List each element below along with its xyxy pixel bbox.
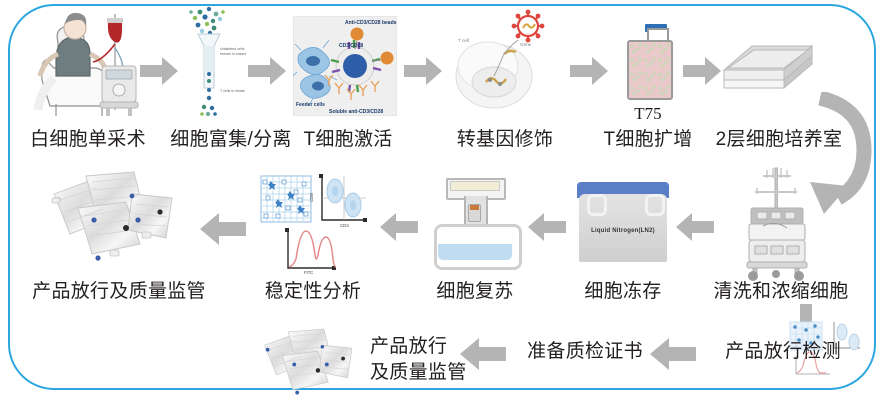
liquid-nitrogen-dewar-illustration: Liquid Nitrogen(LN2) — [573, 176, 673, 274]
workflow-diagram: 白细胞单采术 — [0, 0, 888, 403]
step-label-stability-analysis: 稳定性分析 — [253, 280, 373, 303]
svg-text:T cell: T cell — [458, 38, 469, 43]
step-label-cell-thawing: 细胞复苏 — [430, 280, 520, 303]
svg-text:CD8: CD8 — [309, 193, 314, 202]
arrow-right-3 — [404, 56, 442, 86]
step-stability-analysis[interactable]: CD8 CD4 FITC — [258, 172, 368, 276]
step-label-product-release-qc-row3: 产品放行 及质量监管 — [370, 334, 500, 386]
svg-text:Unlabeled cells: Unlabeled cells — [220, 47, 245, 51]
gene-transduction-illustration: T cell Gene — [448, 4, 558, 120]
step-t-cell-expansion[interactable] — [617, 24, 679, 106]
step-product-release-qc-row3-art[interactable] — [254, 326, 370, 400]
step-label-product-release-qc-row2: 产品放行及质量监管 — [16, 280, 222, 303]
dewar-handle-right — [645, 194, 665, 216]
flask-body — [627, 40, 673, 100]
arrow-left-3 — [380, 212, 418, 242]
flask-size-label: T75 — [617, 104, 679, 124]
cell-washing-machine-illustration — [733, 166, 819, 284]
step-label-prepare-coa[interactable]: 准备质检证书 — [520, 340, 650, 363]
product-release-qc-text: 产品放行 及质量监管 — [370, 336, 467, 383]
t75-flask-illustration — [617, 24, 679, 106]
product-bags-illustration — [48, 168, 188, 268]
step-t-cell-activation[interactable]: Anti-CD3/CD28 beads CD3/CD28 Feeder cell… — [293, 16, 397, 116]
svg-text:remain in column: remain in column — [220, 52, 246, 56]
step-label-release-testing: 产品放行检测 — [708, 340, 858, 363]
arrow-left-1 — [676, 212, 714, 242]
dewar-caption: Liquid Nitrogen(LN2) — [573, 228, 673, 234]
svg-text:FITC: FITC — [304, 270, 313, 275]
arrow-right-2 — [248, 56, 286, 86]
step-label-leukapheresis: 白细胞单采术 — [8, 128, 168, 151]
separation-column-illustration: Unlabeled cells remain in column T cells… — [176, 4, 246, 120]
activation-beads-caption: Anti-CD3/CD28 beads — [345, 20, 397, 26]
svg-text:T cells in eluate: T cells in eluate — [220, 89, 245, 93]
activation-soluble-caption: Soluble anti-CD3/CD28 — [329, 109, 383, 115]
step-label-gene-modification: 转基因修饰 — [440, 128, 570, 151]
step-cryopreservation[interactable]: Liquid Nitrogen(LN2) — [573, 176, 673, 274]
arrow-right-1 — [140, 56, 178, 86]
step-leukapheresis[interactable] — [28, 8, 148, 120]
arrow-left-4 — [200, 212, 246, 246]
svg-text:Gene: Gene — [520, 42, 532, 47]
arrow-left-2 — [528, 212, 566, 242]
thaw-water — [438, 244, 512, 260]
flow-cytometry-plots-illustration: CD8 CD4 FITC — [258, 172, 368, 276]
step-cell-washing[interactable] — [733, 166, 819, 284]
product-bags-illustration — [254, 326, 370, 400]
step-product-release-qc-row2[interactable] — [48, 168, 188, 268]
arrow-left-5 — [650, 337, 696, 371]
t-cell-activation-illustration: Anti-CD3/CD28 beads CD3/CD28 Feeder cell… — [293, 16, 397, 116]
activation-feeder-caption: Feeder cells — [296, 102, 325, 108]
step-cell-enrichment[interactable]: Unlabeled cells remain in column T cells… — [176, 4, 246, 120]
activation-receptor-caption: CD3/CD28 — [339, 43, 363, 49]
thaw-vial — [468, 204, 481, 222]
thaw-display — [450, 181, 500, 191]
cell-thawing-device-illustration — [430, 174, 520, 270]
step-label-t-cell-activation: T细胞激活 — [288, 128, 408, 151]
dewar-handle-left — [587, 194, 607, 216]
step-cell-thawing[interactable] — [430, 174, 520, 270]
step-label-t-cell-expansion: T细胞扩增 — [590, 128, 706, 151]
leukapheresis-illustration — [28, 8, 148, 120]
step-label-cryopreservation: 细胞冻存 — [573, 280, 673, 303]
arrow-right-4 — [570, 56, 608, 86]
step-label-cell-washing: 清洗和浓缩细胞 — [706, 280, 856, 303]
svg-text:CD4: CD4 — [340, 223, 349, 228]
step-gene-modification[interactable]: T cell Gene — [448, 4, 558, 120]
